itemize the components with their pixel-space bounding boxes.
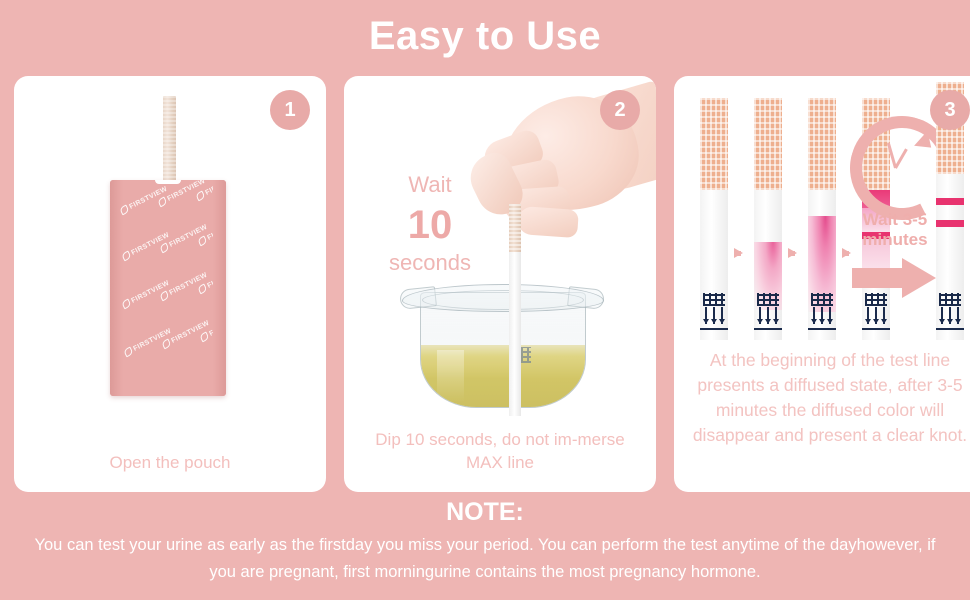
note-title: NOTE: (0, 496, 970, 528)
brand-text: FIRSTVIEW (206, 216, 226, 241)
wait-unit: minutes (862, 230, 927, 249)
urine-cup-icon (402, 276, 602, 412)
strip-sequence-illustration: Wait 3-5 minutes (674, 76, 970, 344)
page-title: Easy to Use (0, 8, 970, 64)
finger-shape (517, 206, 579, 238)
strip-pad (509, 204, 521, 252)
pouch-brand-pattern: FIRSTVIEW FIRSTVIEW FIRSTVIEW FIRSTVIEW … (110, 180, 226, 396)
strip-max-mark (939, 293, 961, 306)
clock-icon (846, 112, 944, 208)
brand-text: FIRSTVIEW (204, 180, 226, 196)
strip-arrows-icon (812, 306, 832, 324)
step-caption-2: Dip 10 seconds, do not im-merse MAX line (360, 428, 640, 474)
strip-arrows-icon (704, 306, 724, 324)
strip-pad (700, 98, 728, 190)
strip-pad (754, 98, 782, 190)
strip-max-line (700, 328, 728, 331)
strip-arrows-icon (940, 306, 960, 324)
strip-max-line (936, 328, 964, 331)
steps-container: 1 FIRSTVIEW FIRSTVIEW FIRSTVIEW FIRSTVIE… (14, 76, 956, 492)
control-line (936, 198, 964, 205)
strip-arrows-icon (758, 306, 778, 324)
strip-body (509, 252, 521, 416)
foil-pouch-icon: FIRSTVIEW FIRSTVIEW FIRSTVIEW FIRSTVIEW … (110, 180, 226, 396)
step-card-1: 1 FIRSTVIEW FIRSTVIEW FIRSTVIEW FIRSTVIE… (14, 76, 326, 492)
arrow-head (902, 258, 936, 298)
step-card-3: 3 (674, 76, 970, 492)
sequence-arrow-icon (788, 248, 797, 258)
result-arrow-icon (852, 258, 938, 298)
test-line (936, 220, 964, 227)
brand-text: FIRSTVIEW (208, 312, 226, 337)
brand-text: FIRSTVIEW (206, 264, 226, 289)
test-strip-icon (163, 96, 176, 192)
strip-max-line (754, 328, 782, 331)
cup-liquid (421, 345, 585, 407)
result-strip-3 (808, 98, 836, 340)
strip-pad (808, 98, 836, 190)
strip-max-line (808, 328, 836, 331)
wait-3-5-minutes-label: Wait 3-5 minutes (840, 210, 950, 250)
strip-max-mark (811, 293, 833, 306)
step-caption-1: Open the pouch (30, 451, 310, 474)
infographic-page: Easy to Use 1 FIRSTVIEW FIRSTVIEW FIRSTV… (0, 0, 970, 600)
step-badge-2: 2 (600, 90, 640, 130)
result-strip-2 (754, 98, 782, 340)
step-card-2: 2 Wait 10 seconds (344, 76, 656, 492)
result-strip-1 (700, 98, 728, 340)
strip-max-mark (757, 293, 779, 306)
test-strip-icon (509, 204, 521, 416)
wait-word: Wait 3-5 (863, 210, 928, 229)
cup-rim-inner (422, 290, 584, 310)
arrow-shaft (852, 268, 906, 288)
strip-max-mark (703, 293, 725, 306)
strip-arrows-icon (866, 306, 886, 324)
sequence-arrow-icon (734, 248, 743, 258)
step-badge-3: 3 (930, 90, 970, 130)
strip-max-line (862, 328, 890, 331)
step-caption-3: At the beginning of the test line presen… (684, 348, 970, 448)
step-badge-1: 1 (270, 90, 310, 130)
note-body: You can test your urine as early as the … (20, 532, 950, 586)
